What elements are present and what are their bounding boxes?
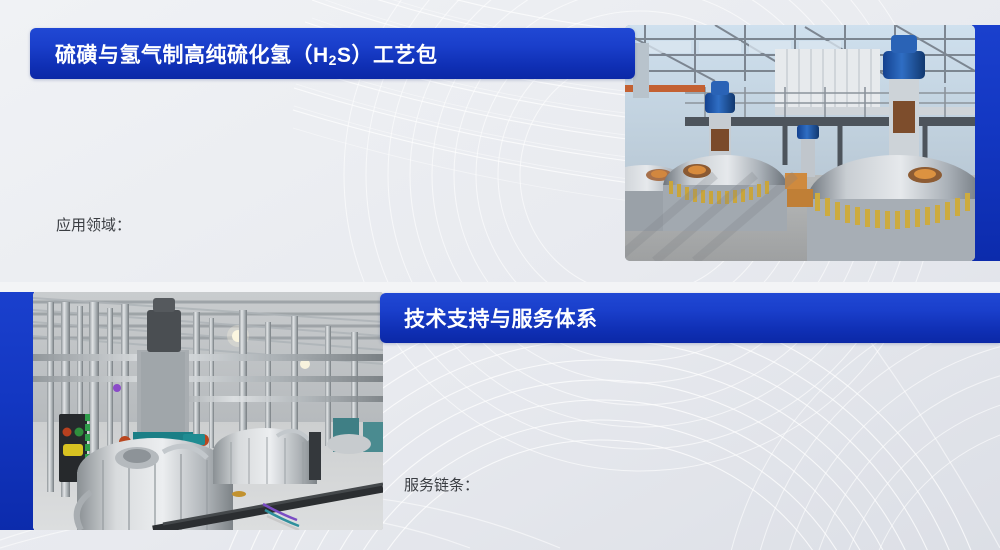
pipeline-plant-interior-photo [33,292,383,530]
panel-2-title: 技术支持与服务体系 [404,303,598,333]
panel-2-body: 服务链条： 售前：工艺包定制咨询、可行性分析 售后：设备安装指导、工艺优化迭代 … [404,364,824,550]
panel-2-header-bar: 技术支持与服务体系 [380,293,1000,343]
panel-2-group-1: 服务链条： 售前：工艺包定制咨询、可行性分析 售后：设备安装指导、工艺优化迭代 [404,418,824,550]
panel-1-header-bar: 硫磺与氢气制高纯硫化氢（H2S）工艺包 [30,28,635,79]
reactor-vessels-workshop-photo [625,25,975,261]
panel-2-group-1-label: 服务链条： [404,472,824,499]
panel-1-title-prefix: 硫磺与氢气制高纯硫化氢（H [55,44,329,67]
panel-1-title: 硫磺与氢气制高纯硫化氢（H2S）工艺包 [55,39,437,69]
panel-1-title-suffix: S）工艺包 [337,44,438,67]
poster-canvas: 硫磺与氢气制高纯硫化氢（H2S）工艺包 应用领域： 半导体与电子行业、石油化工与… [0,0,1000,550]
accent-band-left [0,292,34,530]
panel-2-title-prefix: 技术支持与服务体系 [404,308,598,331]
accent-band-right [972,25,1000,261]
panel-1-title-subscript: 2 [329,52,337,68]
panel-1-group-1-label: 应用领域： [56,212,616,239]
